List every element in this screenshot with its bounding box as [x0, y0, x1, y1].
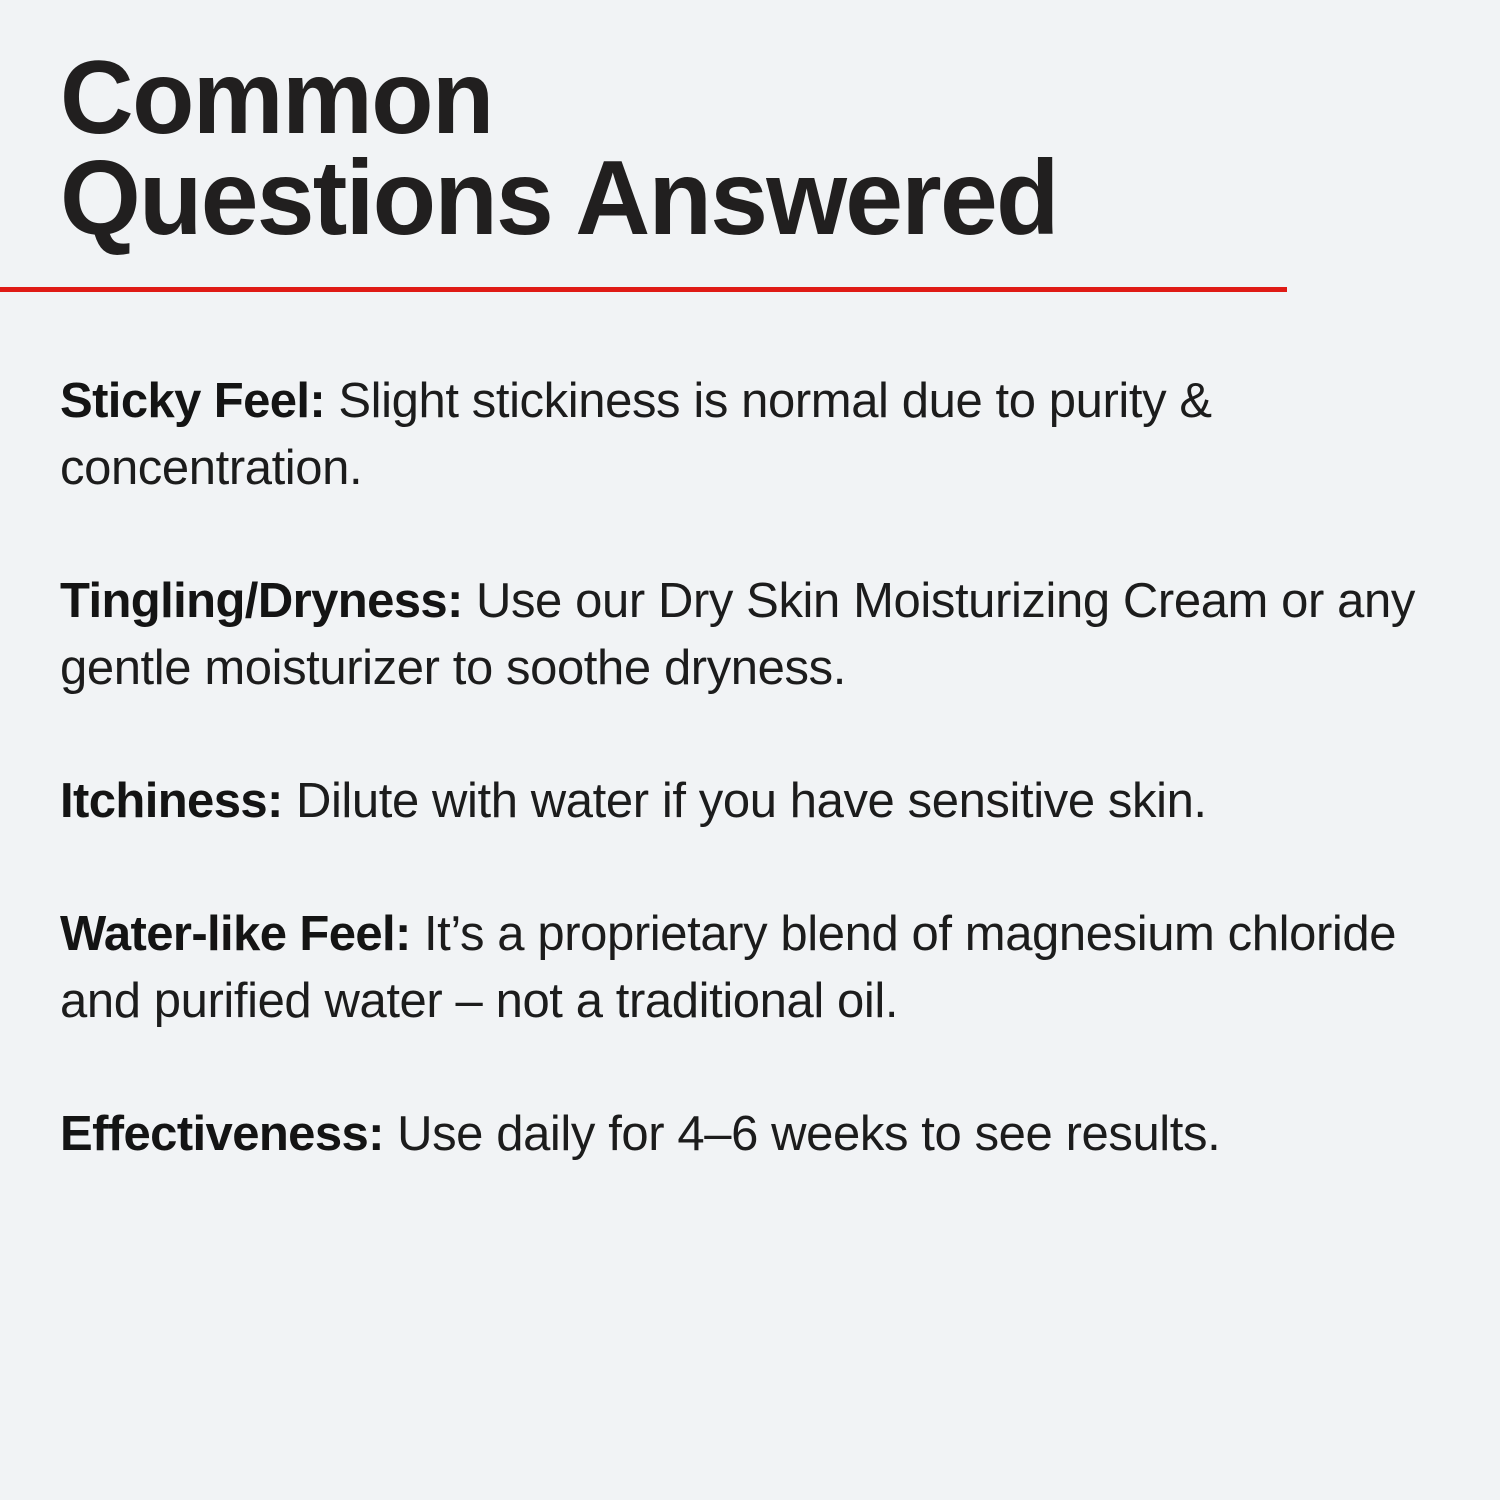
faq-item: Itchiness: Dilute with water if you have… [60, 768, 1472, 835]
faq-item: Tingling/Dryness: Use our Dry Skin Moist… [60, 568, 1472, 702]
faq-term: Effectiveness: [60, 1107, 384, 1161]
faq-list: Sticky Feel: Slight stickiness is normal… [0, 368, 1500, 1168]
faq-card: Common Questions Answered Sticky Feel: S… [0, 0, 1500, 1500]
faq-item: Effectiveness: Use daily for 4–6 weeks t… [60, 1101, 1472, 1168]
faq-item: Water-like Feel: It’s a proprietary blen… [60, 901, 1472, 1035]
faq-term: Itchiness: [60, 774, 283, 828]
faq-term: Sticky Feel: [60, 374, 325, 428]
faq-description: Dilute with water if you have sensitive … [296, 774, 1207, 828]
faq-description: Use daily for 4–6 weeks to see results. [397, 1107, 1220, 1161]
faq-term: Tingling/Dryness: [60, 574, 463, 628]
page-title-line-2: Questions Answered [60, 148, 1471, 248]
page-title: Common Questions Answered [0, 0, 1500, 248]
header: Common Questions Answered [0, 0, 1500, 248]
accent-divider [0, 287, 1287, 292]
page-title-line-1: Common [60, 48, 1471, 148]
faq-term: Water-like Feel: [60, 907, 411, 961]
faq-item: Sticky Feel: Slight stickiness is normal… [60, 368, 1472, 502]
